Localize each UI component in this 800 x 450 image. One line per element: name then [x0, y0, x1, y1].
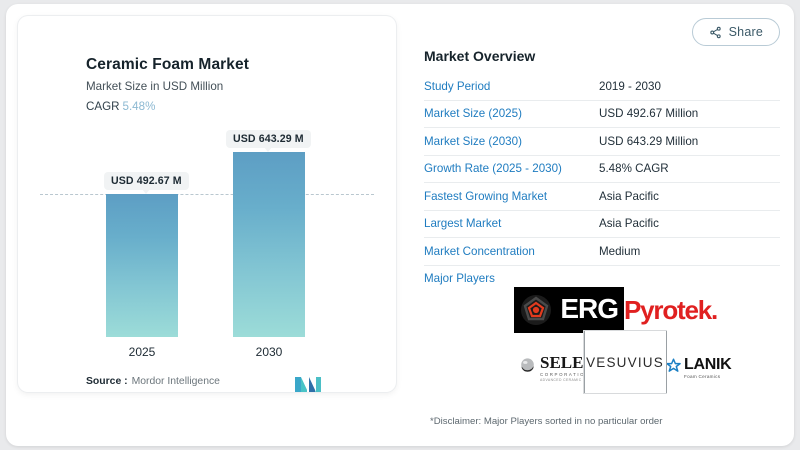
vesuvius-wordmark: VESUVIUS — [586, 355, 664, 370]
chart-gridline — [40, 194, 374, 195]
mordor-intelligence-logo — [295, 377, 321, 392]
market-overview: Market Overview Study Period 2019 - 2030… — [424, 48, 780, 292]
share-label: Share — [729, 25, 763, 39]
erg-logo: ERG — [514, 287, 624, 333]
table-row: Growth Rate (2025 - 2030) 5.48% CAGR — [424, 156, 780, 184]
table-row: Market Size (2025) USD 492.67 Million — [424, 101, 780, 129]
row-value: Asia Pacific — [599, 190, 659, 203]
pyrotek-registered-icon: . — [711, 295, 717, 326]
row-key: Market Size (2030) — [424, 135, 599, 148]
bar-2025[interactable] — [106, 194, 178, 337]
pyrotek-logo: Pyrotek . — [624, 287, 736, 333]
lanik-logo: LANIK Foam Ceramics — [666, 344, 744, 392]
table-row: Market Concentration Medium — [424, 238, 780, 266]
table-row: Fastest Growing Market Asia Pacific — [424, 183, 780, 211]
overview-title: Market Overview — [424, 48, 780, 64]
share-nodes-icon — [709, 26, 722, 39]
pyrotek-wordmark: Pyrotek — [624, 295, 711, 326]
row-key: Market Concentration — [424, 245, 599, 258]
x-axis-label-2030: 2030 — [224, 345, 314, 359]
share-button[interactable]: Share — [692, 18, 780, 46]
row-value: USD 492.67 Million — [599, 107, 698, 120]
row-value: Asia Pacific — [599, 217, 659, 230]
row-key: Fastest Growing Market — [424, 190, 599, 203]
major-players-logos: ERG Pyrotek . SELEE CORPORATION ADVANCED… — [511, 287, 739, 395]
bar-label-2030: USD 643.29 M — [226, 130, 311, 148]
lanik-subtitle: Foam Ceramics — [684, 375, 731, 380]
row-key: Market Size (2025) — [424, 107, 599, 120]
disclaimer-text: *Disclaimer: Major Players sorted in no … — [430, 416, 662, 427]
table-row: Study Period 2019 - 2030 — [424, 73, 780, 101]
lanik-wordmark: LANIK — [684, 357, 731, 373]
row-key: Growth Rate (2025 - 2030) — [424, 162, 599, 175]
source-name: Mordor Intelligence — [132, 376, 220, 387]
logo-divider — [584, 331, 585, 393]
lanik-star-icon — [666, 358, 681, 378]
row-value: USD 643.29 Million — [599, 135, 698, 148]
row-value: 5.48% CAGR — [599, 162, 669, 175]
row-value: Medium — [599, 245, 640, 258]
chart-source: Source :Mordor Intelligence — [86, 376, 220, 387]
source-label: Source : — [86, 376, 128, 387]
row-key: Largest Market — [424, 217, 599, 230]
x-axis-label-2025: 2025 — [97, 345, 187, 359]
selee-sphere-icon — [519, 357, 536, 379]
erg-wordmark: ERG — [560, 293, 618, 325]
chart-card: Ceramic Foam Market Market Size in USD M… — [18, 16, 396, 392]
row-value: 2019 - 2030 — [599, 80, 661, 93]
report-card: Share Ceramic Foam Market Market Size in… — [6, 4, 794, 446]
table-row: Largest Market Asia Pacific — [424, 211, 780, 239]
table-row: Market Size (2030) USD 643.29 Million — [424, 128, 780, 156]
row-key: Study Period — [424, 80, 599, 93]
bar-2030[interactable] — [233, 152, 305, 337]
logo-divider — [666, 331, 667, 393]
lanik-text-block: LANIK Foam Ceramics — [684, 357, 731, 380]
erg-emblem-icon — [520, 294, 552, 326]
vesuvius-logo: VESUVIUS — [584, 331, 666, 393]
bar-label-2025: USD 492.67 M — [104, 172, 189, 190]
major-players-label: Major Players — [424, 272, 599, 285]
bar-chart-plot: USD 492.67 M USD 643.29 M 2025 2030 — [18, 16, 396, 392]
